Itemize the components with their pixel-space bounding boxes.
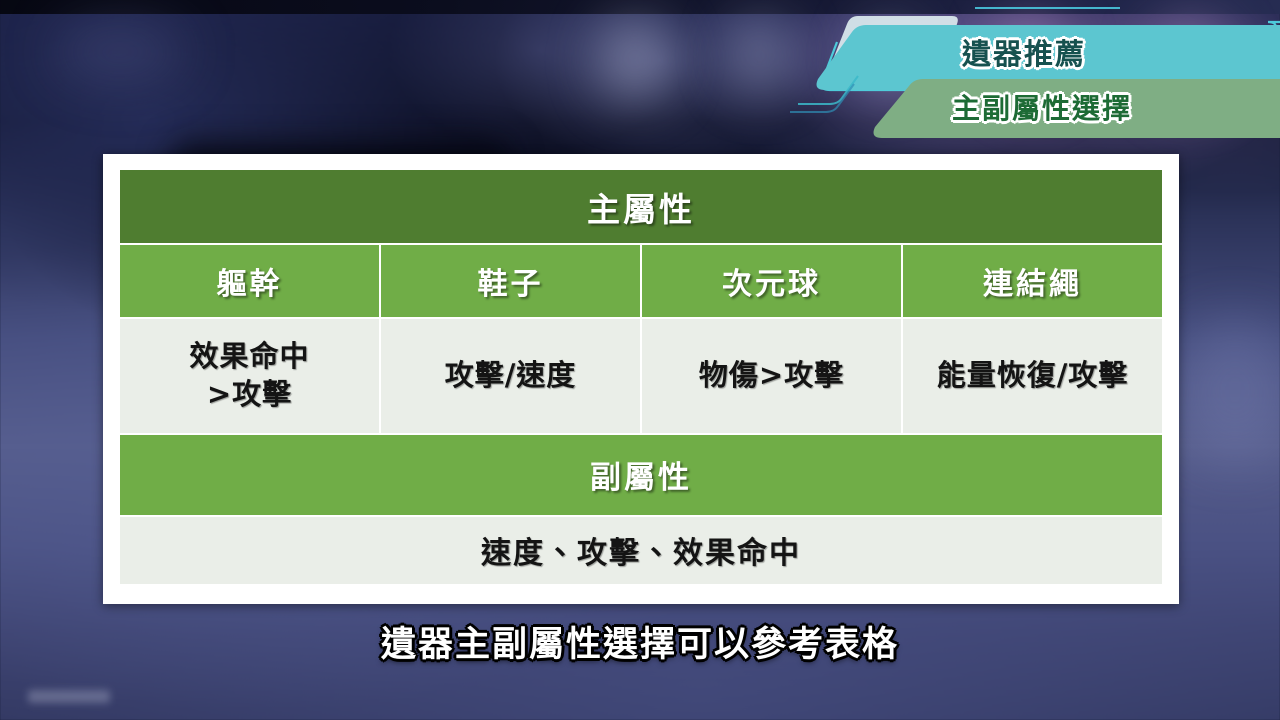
main-value-sphere: 物傷>攻擊 — [642, 319, 901, 433]
table-row-main-values: 效果命中 >攻擊 攻擊/速度 物傷>攻擊 能量恢復/攻擊 — [120, 319, 1162, 433]
main-value-feet: 攻擊/速度 — [381, 319, 640, 433]
secondary-attribute-value: 速度、攻擊、效果命中 — [120, 517, 1162, 584]
table-row-secondary-value: 速度、攻擊、效果命中 — [120, 517, 1162, 584]
banner-title-primary: 遺器推薦 — [962, 31, 1086, 73]
table-row-main-header: 主屬性 — [120, 170, 1162, 243]
banner-group: 遺器推薦 主副屬性選擇 — [790, 0, 1280, 145]
table-row-secondary-header: 副屬性 — [120, 435, 1162, 515]
video-subtitle: 遺器主副屬性選擇可以參考表格 — [0, 616, 1280, 667]
main-value-body: 效果命中 >攻擊 — [120, 319, 379, 433]
table-row-column-headers: 軀幹 鞋子 次元球 連結繩 — [120, 245, 1162, 316]
column-header-feet: 鞋子 — [381, 245, 640, 316]
main-attribute-header: 主屬性 — [120, 170, 1162, 243]
video-frame: 遺器推薦 主副屬性選擇 主屬性 軀幹 鞋子 次元球 連結繩 效果命中 >攻擊 — [0, 0, 1280, 720]
main-value-body-line-1: 效果命中 — [120, 338, 379, 376]
attribute-table: 主屬性 軀幹 鞋子 次元球 連結繩 效果命中 >攻擊 攻擊/速度 物傷>攻擊 能… — [118, 168, 1164, 586]
main-value-rope: 能量恢復/攻擊 — [903, 319, 1162, 433]
column-header-sphere: 次元球 — [642, 245, 901, 316]
secondary-attribute-header: 副屬性 — [120, 435, 1162, 515]
attribute-table-card: 主屬性 軀幹 鞋子 次元球 連結繩 效果命中 >攻擊 攻擊/速度 物傷>攻擊 能… — [103, 154, 1179, 604]
banner-title-secondary: 主副屬性選擇 — [952, 87, 1132, 127]
background-watermark — [28, 690, 110, 703]
main-value-body-line-2: >攻擊 — [120, 376, 379, 414]
column-header-body: 軀幹 — [120, 245, 379, 316]
column-header-rope: 連結繩 — [903, 245, 1162, 316]
